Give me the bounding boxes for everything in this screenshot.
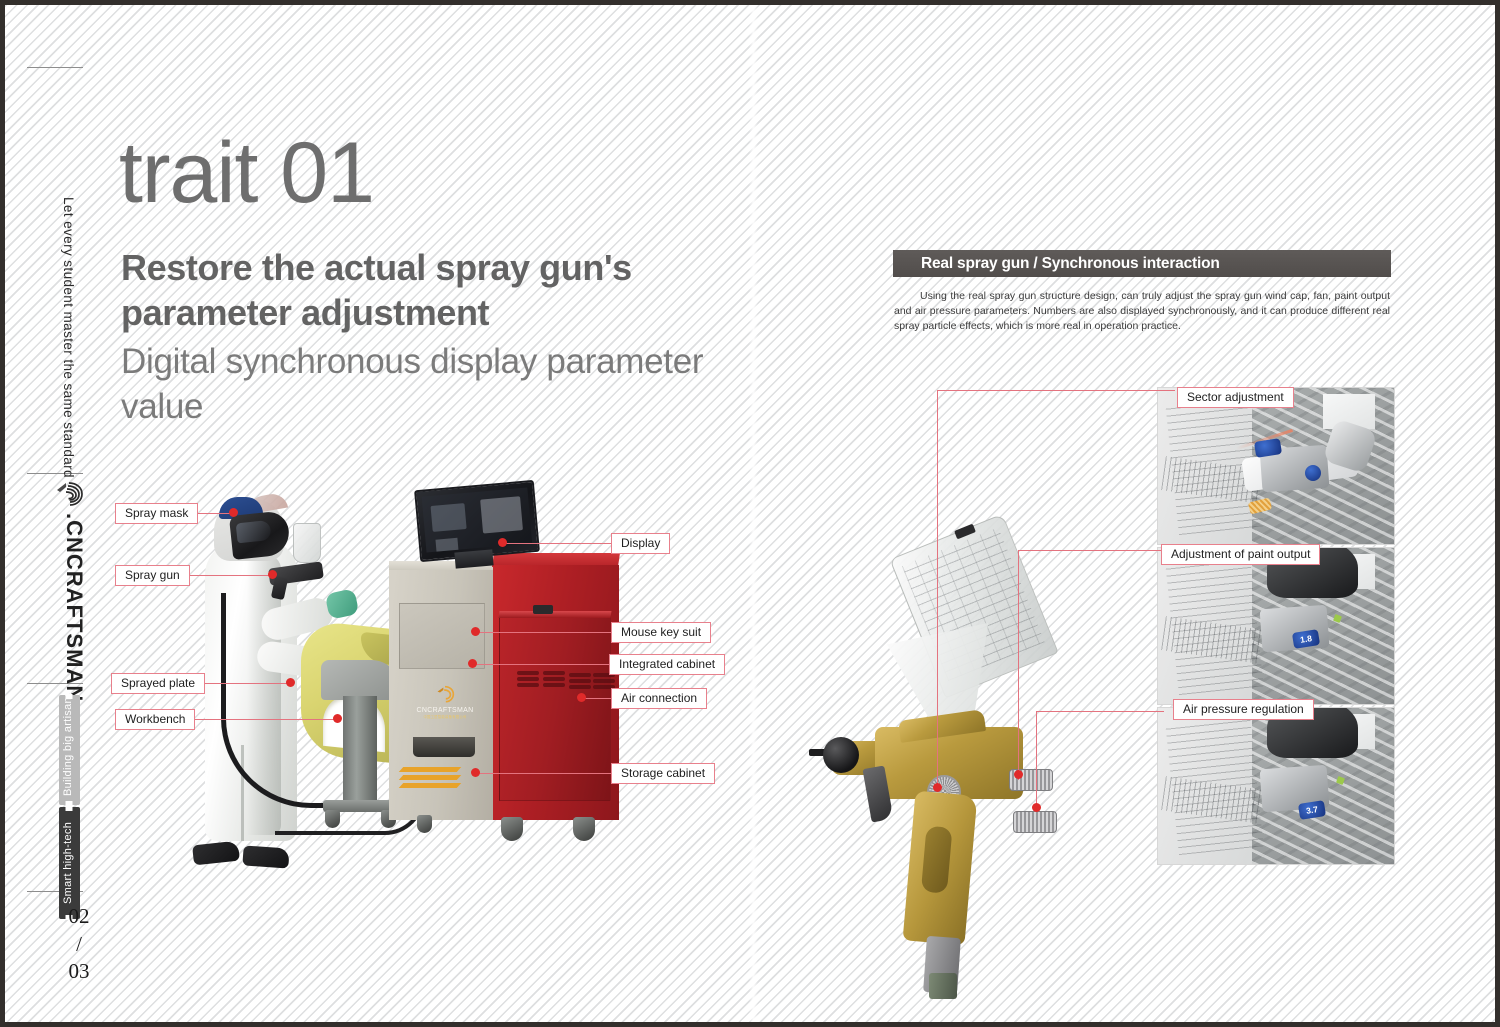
callout-integrated-cabinet[interactable]: Integrated cabinet — [609, 654, 725, 675]
sidebar-divider-top — [27, 67, 83, 68]
dot-mouse-key-suit — [471, 627, 480, 636]
callout-spray-gun[interactable]: Spray gun — [115, 565, 190, 586]
headline-light: Digital synchronous display parameter va… — [121, 340, 721, 430]
monitor-stand — [454, 549, 493, 568]
panel-title-bar: Real spray gun / Synchronous interaction — [893, 250, 1391, 277]
cabinet-handle-bar — [499, 611, 612, 618]
leader-air-v — [1036, 711, 1037, 811]
gun-grip — [903, 791, 978, 946]
leader-integrated-cabinet — [475, 664, 610, 665]
sim-gun-3: 3.7 — [1229, 742, 1375, 839]
leader-sector-v — [937, 390, 938, 790]
dot-display — [498, 538, 507, 547]
cabinet-logo-text: CNCRAFTSMAN — [417, 707, 474, 714]
hazard-chevrons — [401, 767, 459, 789]
leader-mouse-key-suit — [475, 632, 612, 633]
cabinet-louver-2 — [543, 671, 565, 675]
panel-title: Real spray gun / Synchronous interaction — [921, 255, 1220, 273]
spray-gun-cup — [293, 523, 321, 563]
trait-title: trait 01 — [119, 130, 374, 216]
dot-sprayed-plate — [286, 678, 295, 687]
dot-storage-cabinet — [471, 768, 480, 777]
brand-logo — [47, 481, 91, 509]
air-cap-knob — [823, 737, 859, 773]
dot-spray-mask — [229, 508, 238, 517]
callout-air-connection[interactable]: Air connection — [611, 688, 707, 709]
screenshot-sector-adjustment — [1157, 387, 1395, 545]
callout-sector-adjustment[interactable]: Sector adjustment — [1177, 387, 1294, 408]
screen-region-a — [431, 503, 467, 532]
visor-glare — [236, 520, 272, 543]
sim-gun-1 — [1229, 422, 1375, 519]
boot-left — [192, 841, 240, 866]
sim-badge-dot-1 — [1305, 465, 1321, 481]
leader-sector-h — [937, 390, 1175, 391]
leader-air-h — [1036, 711, 1164, 712]
cabinet-louver-3 — [569, 673, 591, 677]
panel-body-text: Using the real spray gun structure desig… — [894, 289, 1390, 334]
sidebar-tagline: Let every student master the same standa… — [61, 197, 76, 478]
cabinet-casters — [405, 815, 621, 841]
workbench-column — [343, 696, 377, 804]
headline-bold: Restore the actual spray gun's parameter… — [121, 245, 721, 336]
cabinet-logo-icon — [435, 685, 455, 705]
page-fold-line — [749, 5, 758, 1022]
spiral-logo-icon — [54, 481, 84, 507]
real-spray-gun-photo — [805, 525, 1105, 1005]
leader-workbench — [185, 719, 337, 720]
leader-paint-v — [1018, 550, 1019, 780]
callout-storage-cabinet[interactable]: Storage cabinet — [611, 763, 715, 784]
air-pressure-nozzle — [1013, 811, 1057, 833]
callout-paint-output[interactable]: Adjustment of paint output — [1161, 544, 1320, 565]
dot-workbench — [333, 714, 342, 723]
caster-b — [501, 817, 523, 841]
callout-sprayed-plate[interactable]: Sprayed plate — [111, 673, 205, 694]
cabinet-logo: CNCRAFTSMAN 中国工匠智能装备有限公司 — [407, 681, 483, 723]
callout-display[interactable]: Display — [611, 533, 670, 554]
cabinet-louver-1 — [517, 671, 539, 675]
leader-paint-h — [1018, 550, 1163, 551]
caster-a — [417, 815, 432, 833]
cabinet-tray — [413, 737, 475, 757]
callout-mouse-key-suit[interactable]: Mouse key suit — [611, 622, 711, 643]
dot-sector-adjustment — [933, 783, 942, 792]
screen-region-c — [435, 538, 458, 552]
dot-spray-gun — [268, 570, 277, 579]
sim-badge-value-3: 3.7 — [1298, 800, 1326, 820]
dot-integrated-cabinet — [468, 659, 477, 668]
page-number: 02/03 — [57, 903, 101, 986]
workbench-caster-left — [325, 810, 340, 828]
grip-slot — [921, 826, 953, 894]
callout-spray-mask[interactable]: Spray mask — [115, 503, 198, 524]
leader-spray-gun — [184, 575, 272, 576]
sim-marker-green-2 — [1333, 614, 1342, 623]
leader-display — [502, 543, 612, 544]
sim-gun-2: 1.8 — [1229, 582, 1375, 679]
boot-right — [242, 845, 289, 868]
callout-workbench[interactable]: Workbench — [115, 709, 195, 730]
gun-inlet-tip — [929, 973, 957, 999]
dot-air-connection — [577, 693, 586, 702]
callout-air-pressure[interactable]: Air pressure regulation — [1173, 699, 1314, 720]
sim-paint-chip — [1248, 497, 1272, 514]
caster-c — [573, 817, 595, 841]
leader-storage-cabinet — [475, 773, 613, 774]
brochure-page: Let every student master the same standa… — [0, 0, 1500, 1027]
cabinet-logo-subtext: 中国工匠智能装备有限公司 — [423, 714, 466, 719]
dot-paint-output — [1014, 770, 1023, 779]
left-sidebar: Let every student master the same standa… — [19, 15, 95, 1015]
cabinet-latch — [533, 605, 553, 614]
dot-air-pressure — [1032, 803, 1041, 812]
badge-building-big-artisans: Building big artisans — [59, 695, 80, 805]
screenshot-paint-output: 1.8 — [1157, 547, 1395, 705]
brand-name: .CNCRAFTSMAN — [61, 513, 87, 702]
screenshot-air-pressure: 3.7 — [1157, 707, 1395, 865]
screen-region-b — [480, 496, 523, 533]
leader-sprayed-plate — [200, 683, 290, 684]
sim-marker-green-3 — [1336, 776, 1345, 785]
